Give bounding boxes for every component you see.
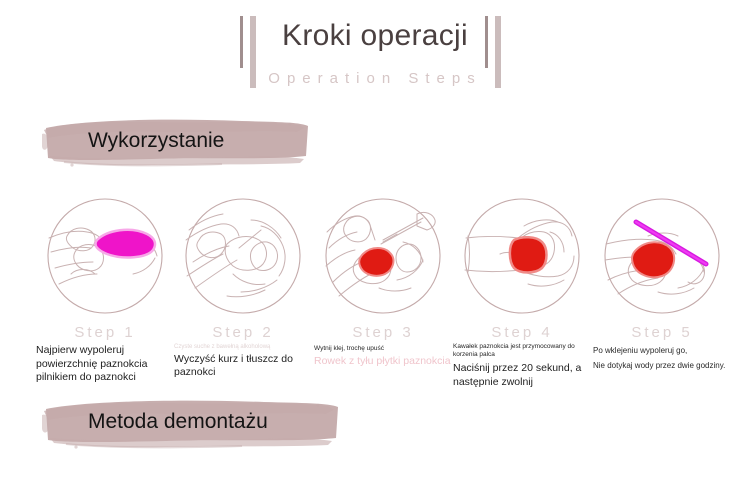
- step-faint-text: Czyste suche z bawełną alkoholową: [174, 344, 312, 352]
- step-main-text-2: Nie dotykaj wody przez dwie godziny.: [593, 360, 731, 371]
- step-label: Step 1: [35, 324, 175, 341]
- step-4-illustration: [462, 196, 582, 316]
- step-item: Step 1 Najpierw wypoleruj powierzchnię p…: [35, 196, 175, 385]
- page-subtitle: Operation Steps: [0, 70, 750, 87]
- step-label: Step 4: [452, 324, 592, 341]
- step-item: Step 2 Czyste suche z bawełną alkoholową…: [173, 196, 313, 380]
- step-label: Step 5: [592, 324, 732, 341]
- step-main-text: Po wklejeniu wypoleruj go,: [593, 345, 731, 356]
- step-item: Step 4 Kawałek paznokcia jest przymocowa…: [452, 196, 592, 389]
- step-item: Step 3 Wytnij klej, trochę upuść Rowek z…: [313, 196, 453, 369]
- banner-usage: Wykorzystanie: [42, 116, 314, 168]
- step-3-illustration: [323, 196, 443, 316]
- banner-usage-label: Wykorzystanie: [88, 129, 224, 153]
- page-title: Kroki operacji: [0, 20, 750, 52]
- step-main-text: Najpierw wypoleruj powierzchnię paznokci…: [36, 344, 174, 385]
- polish-nail-with-file-icon: [602, 196, 722, 316]
- step-main-text: Wyczyść kurz i tłuszcz do paznokci: [174, 353, 312, 380]
- press-nail-onto-finger-icon: [462, 196, 582, 316]
- step-small-text: Wytnij klej, trochę upuść: [314, 345, 452, 353]
- step-caption: Czyste suche z bawełną alkoholową Wyczyś…: [173, 344, 313, 380]
- step-caption: Po wklejeniu wypoleruj go, Nie dotykaj w…: [592, 345, 732, 371]
- step-small-text: Kawałek paznokcia jest przymocowany do k…: [453, 343, 591, 360]
- step-caption: Najpierw wypoleruj powierzchnię paznokci…: [35, 344, 175, 385]
- step-label: Step 3: [313, 324, 453, 341]
- page-header: Kroki operacji Operation Steps: [0, 0, 750, 108]
- step-2-illustration: [183, 196, 303, 316]
- hand-with-cotton-wipe-icon: [183, 196, 303, 316]
- banner-removal: Metoda demontażu: [42, 398, 344, 450]
- hand-with-nail-file-icon: [45, 196, 165, 316]
- step-main-text: Naciśnij przez 20 sekund, a następnie zw…: [453, 362, 591, 389]
- banner-removal-label: Metoda demontażu: [88, 410, 268, 434]
- step-1-illustration: [45, 196, 165, 316]
- step-caption: Wytnij klej, trochę upuść Rowek z tyłu p…: [313, 345, 453, 369]
- step-caption: Kawałek paznokcia jest przymocowany do k…: [452, 343, 592, 389]
- glue-applicator-on-nail-icon: [323, 196, 443, 316]
- step-pink-text: Rowek z tyłu płytki paznokcia: [314, 355, 452, 369]
- steps-row: Step 1 Najpierw wypoleruj powierzchnię p…: [0, 196, 750, 396]
- step-label: Step 2: [173, 324, 313, 341]
- step-5-illustration: [602, 196, 722, 316]
- step-item: Step 5 Po wklejeniu wypoleruj go, Nie do…: [592, 196, 732, 371]
